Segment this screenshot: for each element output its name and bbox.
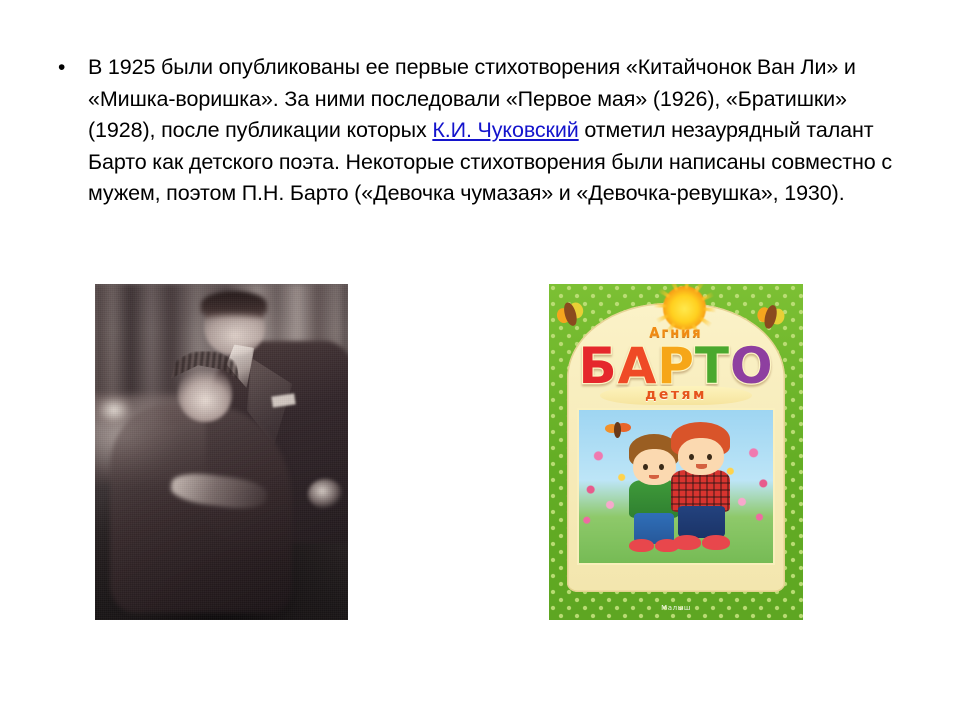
photo-woman-dress <box>110 405 292 613</box>
bullet-marker: • <box>52 52 88 84</box>
boy-left-shoe-left <box>629 539 653 552</box>
book-publisher-mark: Малыш <box>549 604 803 612</box>
boy-right-face <box>678 438 724 475</box>
boy-right-shoe-left <box>673 535 701 549</box>
slide-body-text: • В 1925 были опубликованы ее первые сти… <box>52 52 914 210</box>
boy-right-plaid-shirt <box>671 470 730 512</box>
boy-right-shoe-right <box>702 535 730 549</box>
book-title: БАРТО <box>549 339 803 393</box>
title-letter-2: А <box>618 339 658 393</box>
chukovsky-hyperlink[interactable]: К.И. Чуковский <box>432 118 578 142</box>
book-subtitle: детям <box>600 386 752 405</box>
title-letter-3: Р <box>657 339 695 393</box>
book-cover-barto-detyam: Агния БАРТО детям <box>549 284 803 620</box>
presentation-slide: • В 1925 были опубликованы ее первые сти… <box>0 0 960 720</box>
photo-woman-head <box>178 365 231 422</box>
illustration-boy-right <box>670 422 734 553</box>
title-letter-5: О <box>730 339 774 393</box>
sun-icon <box>663 286 706 330</box>
title-letter-4: Т <box>695 339 730 393</box>
photo-man-hand <box>308 479 343 509</box>
vintage-photograph-couple <box>95 284 348 620</box>
bullet-list-item: • В 1925 были опубликованы ее первые сти… <box>52 52 914 210</box>
boy-right-mouth <box>696 464 707 469</box>
bullet-paragraph: В 1925 были опубликованы ее первые стихо… <box>88 52 914 210</box>
book-cover-illustration <box>579 410 772 563</box>
photo-man-hair <box>201 291 267 318</box>
boy-left-eye-left <box>643 464 648 470</box>
boy-left-face <box>633 449 676 485</box>
boy-right-shorts <box>678 506 725 538</box>
title-letter-1: Б <box>578 339 617 393</box>
